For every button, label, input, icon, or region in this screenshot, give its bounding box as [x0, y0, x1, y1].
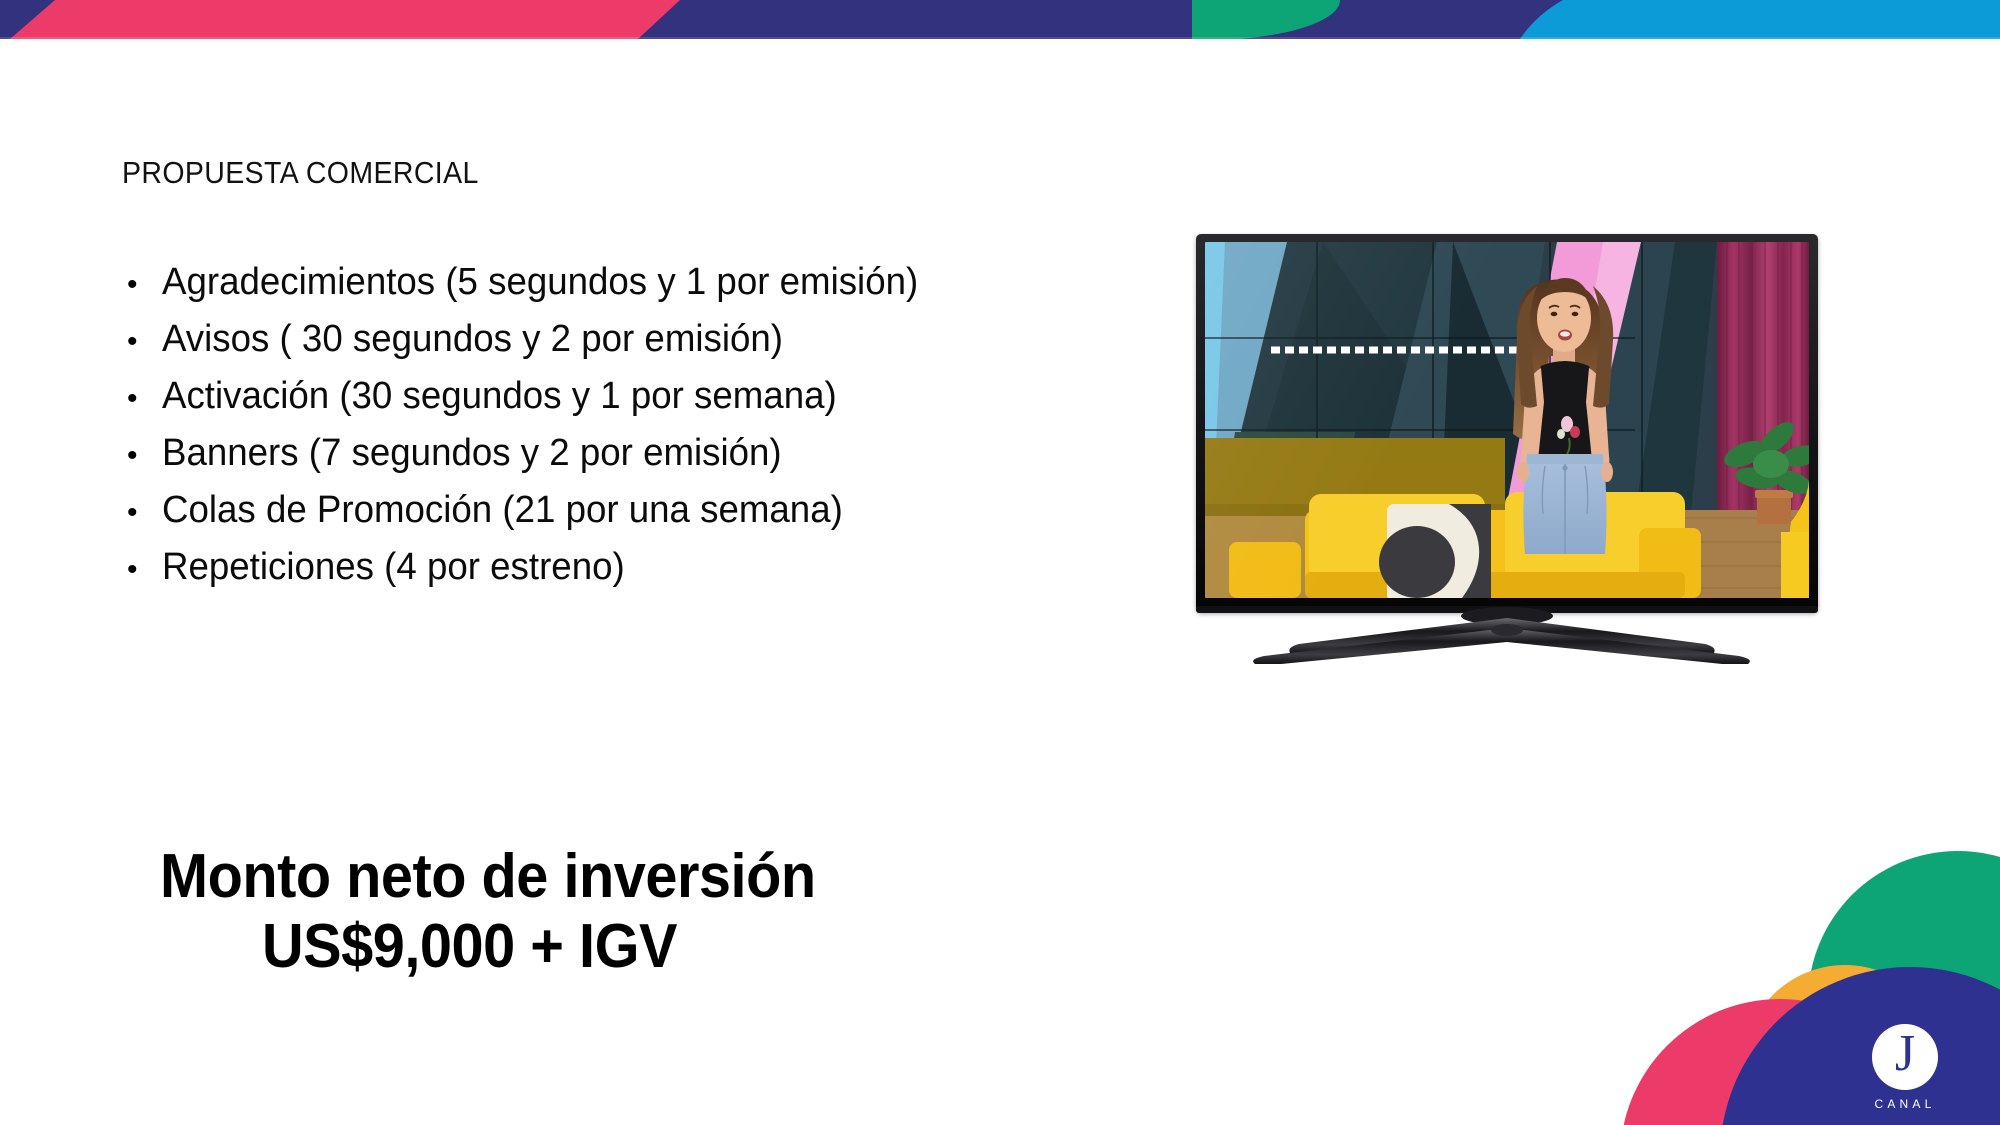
- bullet-dot-icon: •: [122, 327, 162, 357]
- list-item-label: Colas de Promoción (21 por una semana): [162, 490, 843, 530]
- tv-bezel: [1196, 234, 1818, 612]
- brand-logo: J CANAL: [1845, 1024, 1965, 1111]
- tv-screen: [1205, 242, 1809, 598]
- investment-label: Monto neto de inversión: [160, 845, 816, 909]
- proposal-bullet-list: • Agradecimientos (5 segundos y 1 por em…: [122, 262, 1182, 604]
- investment-amount-block: Monto neto de inversión US$9,000 + IGV: [160, 845, 865, 979]
- bullet-dot-icon: •: [122, 441, 162, 471]
- slide-canvas: PROPUESTA COMERCIAL • Agradecimientos (5…: [0, 0, 2000, 1125]
- bullet-dot-icon: •: [122, 498, 162, 528]
- list-item-label: Banners (7 segundos y 2 por emisión): [162, 433, 782, 473]
- logo-wordmark: CANAL: [1845, 1097, 1965, 1111]
- list-item-label: Repeticiones (4 por estreno): [162, 547, 625, 587]
- investment-value: US$9,000 + IGV: [262, 915, 823, 979]
- page-title: PROPUESTA COMERCIAL: [122, 155, 479, 191]
- list-item: • Colas de Promoción (21 por una semana): [122, 490, 1182, 547]
- top-decorative-banner: [0, 0, 2000, 39]
- television-image: [1196, 234, 1818, 664]
- bullet-dot-icon: •: [122, 270, 162, 300]
- logo-circle: J: [1872, 1024, 1938, 1090]
- list-item-label: Agradecimientos (5 segundos y 1 por emis…: [162, 262, 918, 302]
- banner-pink-shape: [10, 0, 680, 39]
- banner-cyan-shape: [1520, 0, 2000, 39]
- presenter: [1513, 278, 1613, 554]
- list-item: • Repeticiones (4 por estreno): [122, 547, 1182, 604]
- bullet-dot-icon: •: [122, 555, 162, 585]
- list-item-label: Activación (30 segundos y 1 por semana): [162, 376, 837, 416]
- list-item: • Agradecimientos (5 segundos y 1 por em…: [122, 262, 1182, 319]
- list-item: • Avisos ( 30 segundos y 2 por emisión): [122, 319, 1182, 376]
- list-item: • Activación (30 segundos y 1 por semana…: [122, 376, 1182, 433]
- bullet-dot-icon: •: [122, 384, 162, 414]
- cushion: [1379, 504, 1491, 598]
- list-item-label: Avisos ( 30 segundos y 2 por emisión): [162, 319, 783, 359]
- list-item: • Banners (7 segundos y 2 por emisión): [122, 433, 1182, 490]
- tv-stand: [1196, 606, 1818, 664]
- logo-monogram: J: [1895, 1028, 1915, 1080]
